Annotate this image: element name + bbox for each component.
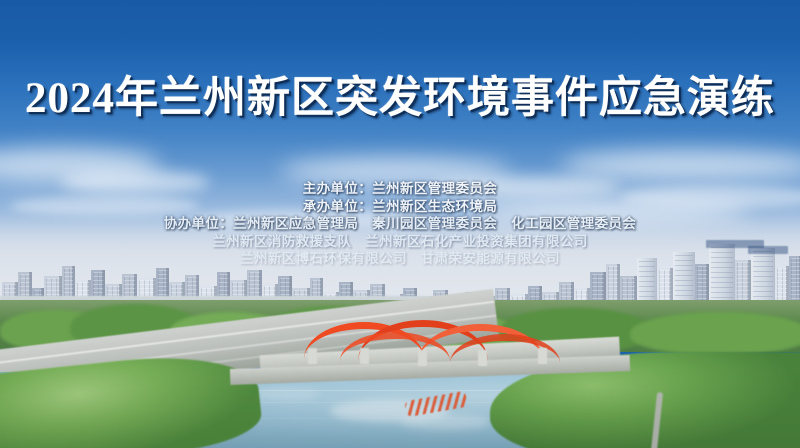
page-title: 2024年兰州新区突发环境事件应急演练 xyxy=(0,72,800,126)
credit-line-partners-1: 兰州新区消防救援支队 兰州新区石化产业投资集团有限公司 xyxy=(0,233,800,251)
credit-line-host: 主办单位：兰州新区管理委员会 xyxy=(0,180,800,198)
red-arch-bridge xyxy=(300,318,570,378)
credit-line-coorganizer: 协办单位：兰州新区应急管理局 秦川园区管理委员会 化工园区管理委员会 xyxy=(0,215,800,233)
credit-line-organizer: 承办单位：兰州新区生态环境局 xyxy=(0,198,800,216)
credit-line-partners-2: 兰州新区博石环保有限公司 甘肃荣安能源有限公司 xyxy=(0,250,800,268)
event-poster: 2024年兰州新区突发环境事件应急演练 主办单位：兰州新区管理委员会 承办单位：… xyxy=(0,0,800,448)
organizer-credits: 主办单位：兰州新区管理委员会 承办单位：兰州新区生态环境局 协办单位：兰州新区应… xyxy=(0,180,800,268)
